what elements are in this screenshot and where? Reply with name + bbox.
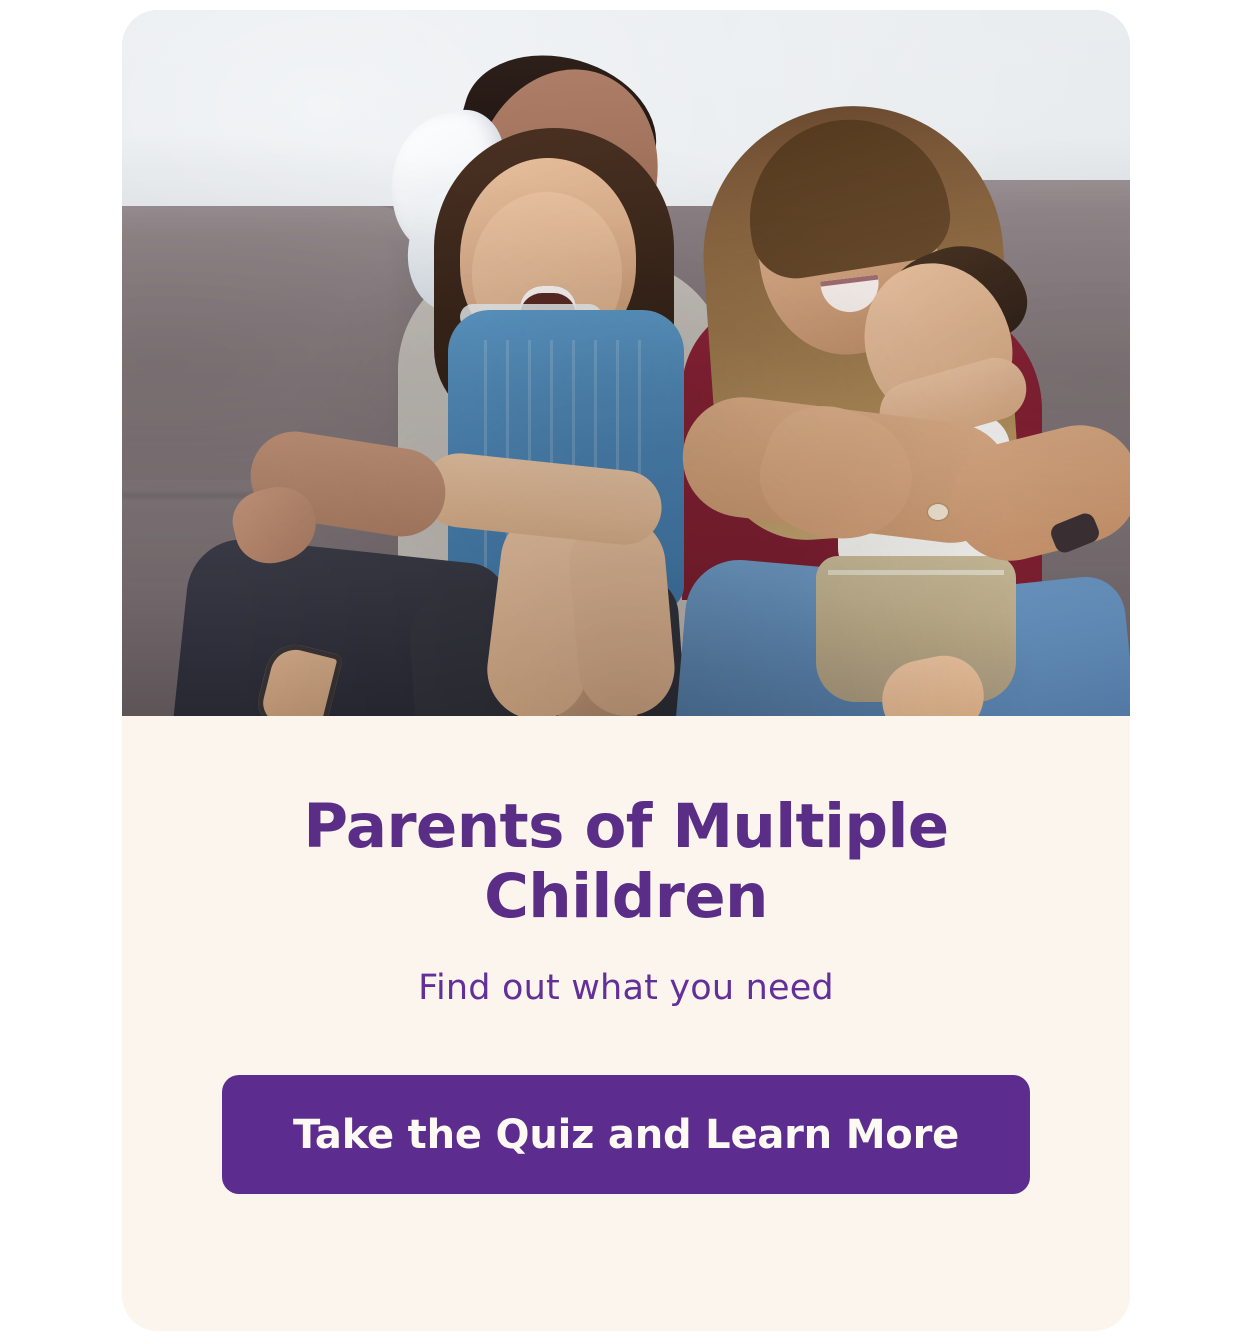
- page-root: Parents of Multiple Children Find out wh…: [0, 0, 1250, 1340]
- subtitle: Find out what you need: [182, 967, 1070, 1009]
- promo-card: Parents of Multiple Children Find out wh…: [122, 10, 1130, 1331]
- promo-card-body: Parents of Multiple Children Find out wh…: [122, 716, 1130, 1331]
- wedding-ring: [928, 504, 948, 520]
- cta-container: Take the Quiz and Learn More: [182, 1075, 1070, 1194]
- page-title: Parents of Multiple Children: [266, 792, 986, 931]
- family-hero-image: [122, 10, 1130, 716]
- take-quiz-button[interactable]: Take the Quiz and Learn More: [222, 1075, 1030, 1194]
